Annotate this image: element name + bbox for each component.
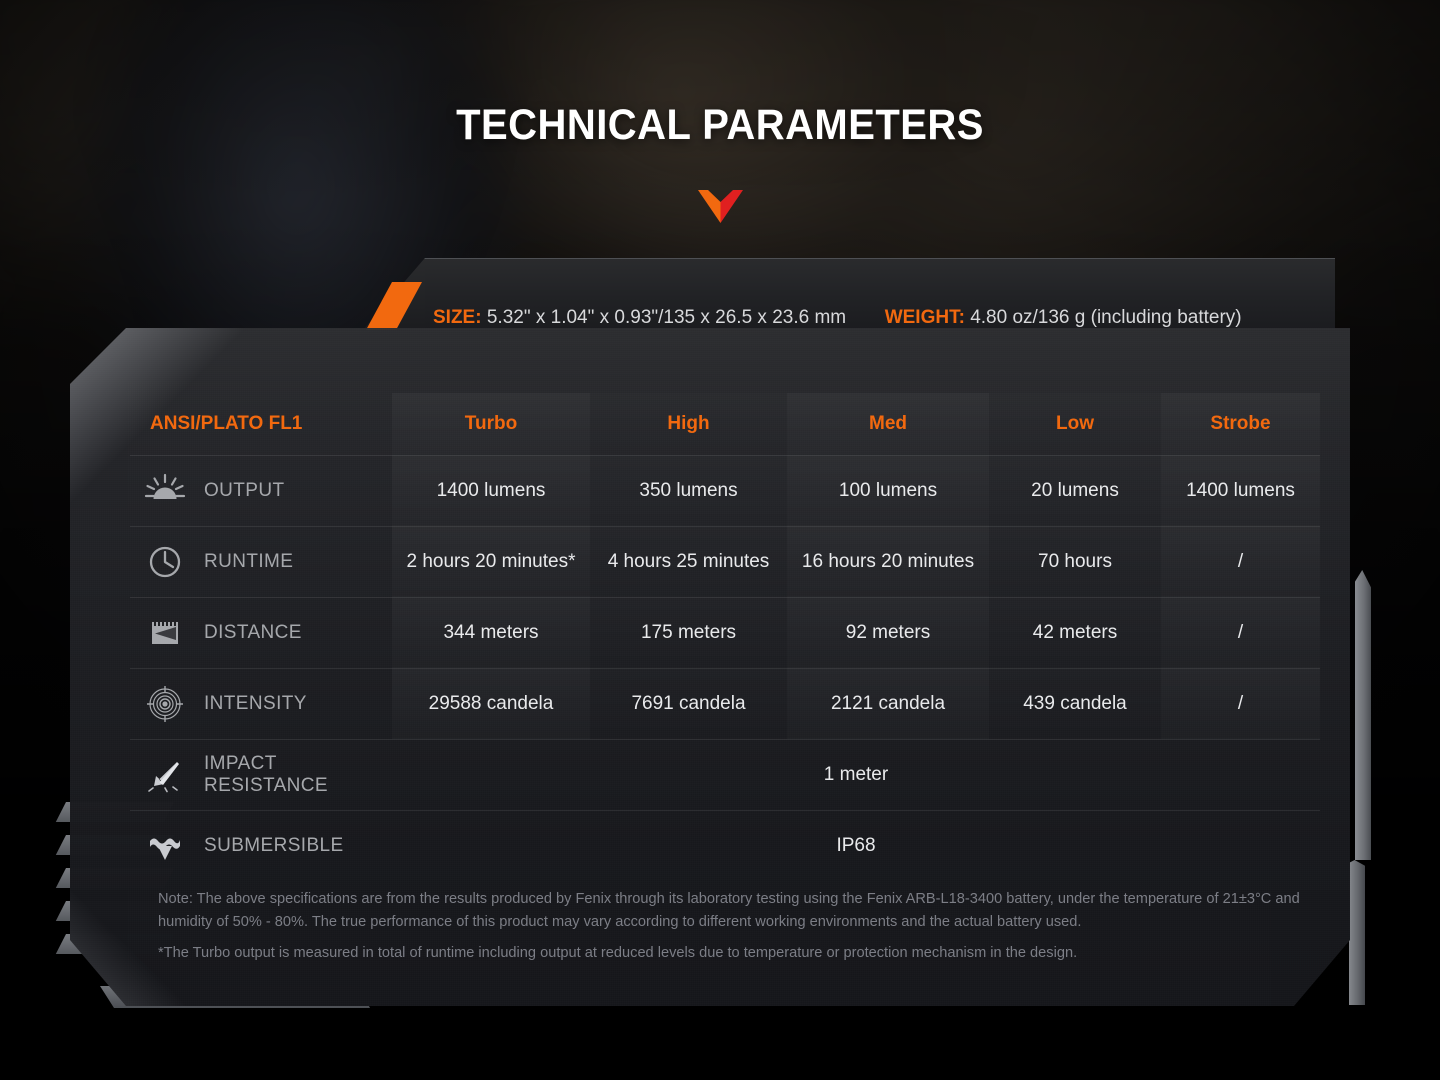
cell-runtime-low: 70 hours (989, 526, 1161, 597)
cell-distance-med: 92 meters (787, 597, 989, 668)
table-row: OUTPUT 1400 lumens 350 lumens 100 lumens… (130, 455, 1320, 526)
product-spec-page: TECHNICAL PARAMETERS SIZE: 5.32" x 1.04"… (0, 0, 1440, 1080)
cell-output-med: 100 lumens (787, 455, 989, 526)
size-weight-line: SIZE: 5.32" x 1.04" x 0.93"/135 x 26.5 x… (433, 307, 1242, 329)
cell-intensity-high: 7691 candela (590, 668, 787, 739)
cell-output-turbo: 1400 lumens (392, 455, 590, 526)
column-header-high: High (590, 393, 787, 455)
cell-output-low: 20 lumens (989, 455, 1161, 526)
spec-table: ANSI/PLATO FL1 Turbo High Med Low Strobe (130, 393, 1320, 881)
row-label-intensity: INTENSITY (130, 668, 392, 739)
cell-intensity-low: 439 candela (989, 668, 1161, 739)
row-label-text: DISTANCE (204, 622, 302, 644)
row-label-text: RUNTIME (204, 551, 293, 573)
table-row: RUNTIME 2 hours 20 minutes* 4 hours 25 m… (130, 526, 1320, 597)
weight-value: 4.80 oz/136 g (including battery) (970, 307, 1241, 328)
page-title: TECHNICAL PARAMETERS (50, 101, 1389, 150)
table-row: SUBMERSIBLE IP68 (130, 810, 1320, 881)
cell-intensity-turbo: 29588 candela (392, 668, 590, 739)
cell-runtime-high: 4 hours 25 minutes (590, 526, 787, 597)
note-main: Note: The above specifications are from … (158, 888, 1310, 933)
cell-distance-low: 42 meters (989, 597, 1161, 668)
cell-runtime-strobe: / (1161, 526, 1320, 597)
row-label-output: OUTPUT (130, 455, 392, 526)
table-header-row: ANSI/PLATO FL1 Turbo High Med Low Strobe (130, 393, 1320, 455)
cell-intensity-med: 2121 candela (787, 668, 989, 739)
corner-header: ANSI/PLATO FL1 (130, 393, 392, 455)
row-label-text: OUTPUT (204, 480, 285, 502)
spec-table-wrapper: ANSI/PLATO FL1 Turbo High Med Low Strobe (130, 393, 1320, 881)
weight-label: WEIGHT: (885, 307, 965, 328)
clock-icon (144, 542, 186, 582)
note-asterisk: *The Turbo output is measured in total o… (158, 942, 1310, 965)
row-label-runtime: RUNTIME (130, 526, 392, 597)
sun-burst-icon (144, 471, 186, 511)
beam-distance-icon (144, 613, 186, 653)
size-label: SIZE: (433, 307, 482, 328)
column-header-low: Low (989, 393, 1161, 455)
row-label-text: INTENSITY (204, 693, 307, 715)
cell-runtime-med: 16 hours 20 minutes (787, 526, 989, 597)
note-block: Note: The above specifications are from … (158, 888, 1310, 965)
row-label-impact-resistance: IMPACT RESISTANCE (130, 739, 392, 810)
cell-output-high: 350 lumens (590, 455, 787, 526)
cell-runtime-turbo: 2 hours 20 minutes* (392, 526, 590, 597)
column-header-turbo: Turbo (392, 393, 590, 455)
column-header-strobe: Strobe (1161, 393, 1320, 455)
water-drop-wave-icon (144, 826, 186, 866)
right-accent-bar-lower (1349, 860, 1365, 1005)
column-header-med: Med (787, 393, 989, 455)
cell-output-strobe: 1400 lumens (1161, 455, 1320, 526)
cell-impact-resistance-value: 1 meter (392, 739, 1320, 810)
cell-intensity-strobe: / (1161, 668, 1320, 739)
table-row: IMPACT RESISTANCE 1 meter (130, 739, 1320, 810)
target-intensity-icon (144, 684, 186, 724)
row-label-submersible: SUBMERSIBLE (130, 810, 392, 881)
table-row: INTENSITY 29588 candela 7691 candela 212… (130, 668, 1320, 739)
right-accent-bar-upper (1355, 570, 1371, 860)
cell-distance-turbo: 344 meters (392, 597, 590, 668)
row-label-text: SUBMERSIBLE (204, 835, 344, 857)
cell-distance-strobe: / (1161, 597, 1320, 668)
impact-arrow-icon (144, 755, 186, 795)
chevron-down-icon (698, 190, 743, 223)
cell-submersible-value: IP68 (392, 810, 1320, 881)
row-label-distance: DISTANCE (130, 597, 392, 668)
row-label-text: IMPACT RESISTANCE (204, 753, 392, 797)
table-row: DISTANCE 344 meters 175 meters 92 meters… (130, 597, 1320, 668)
cell-distance-high: 175 meters (590, 597, 787, 668)
size-value: 5.32" x 1.04" x 0.93"/135 x 26.5 x 23.6 … (487, 307, 846, 328)
